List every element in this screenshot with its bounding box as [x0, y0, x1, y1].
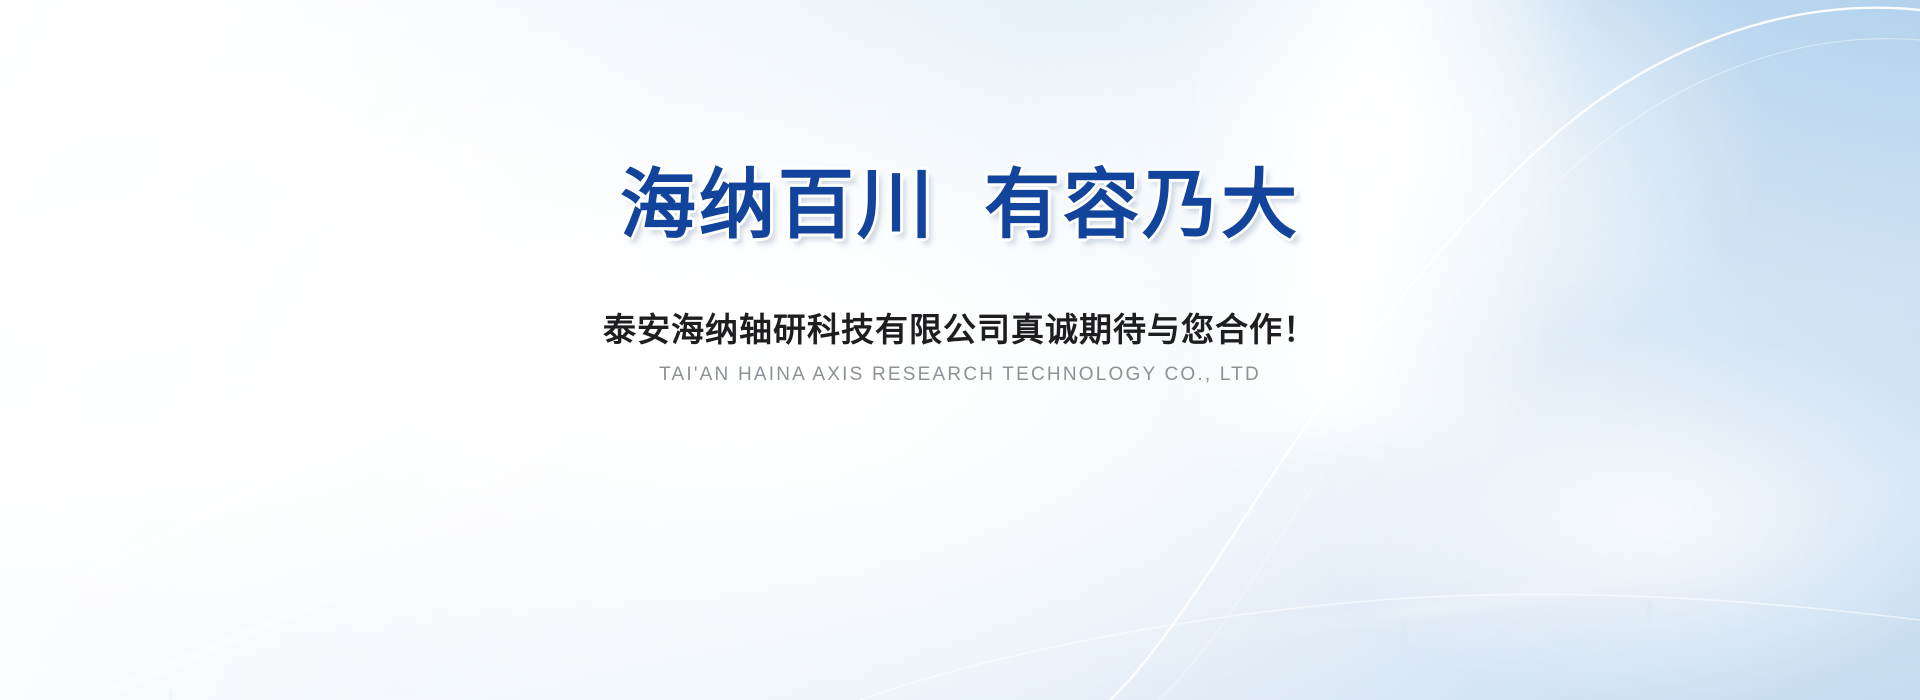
banner-content: 海纳百川 有容乃大 泰安海纳轴研科技有限公司真诚期待与您合作！ TAI'AN H…	[0, 0, 1920, 700]
banner-subtitle-english: TAI'AN HAINA AXIS RESEARCH TECHNOLOGY CO…	[0, 363, 1920, 388]
banner-subtitle-chinese: 泰安海纳轴研科技有限公司真诚期待与您合作！	[0, 309, 1920, 350]
banner-headline: 海纳百川 有容乃大	[0, 168, 1920, 244]
hero-banner: 海纳百川 有容乃大 泰安海纳轴研科技有限公司真诚期待与您合作！ TAI'AN H…	[0, 0, 1920, 700]
